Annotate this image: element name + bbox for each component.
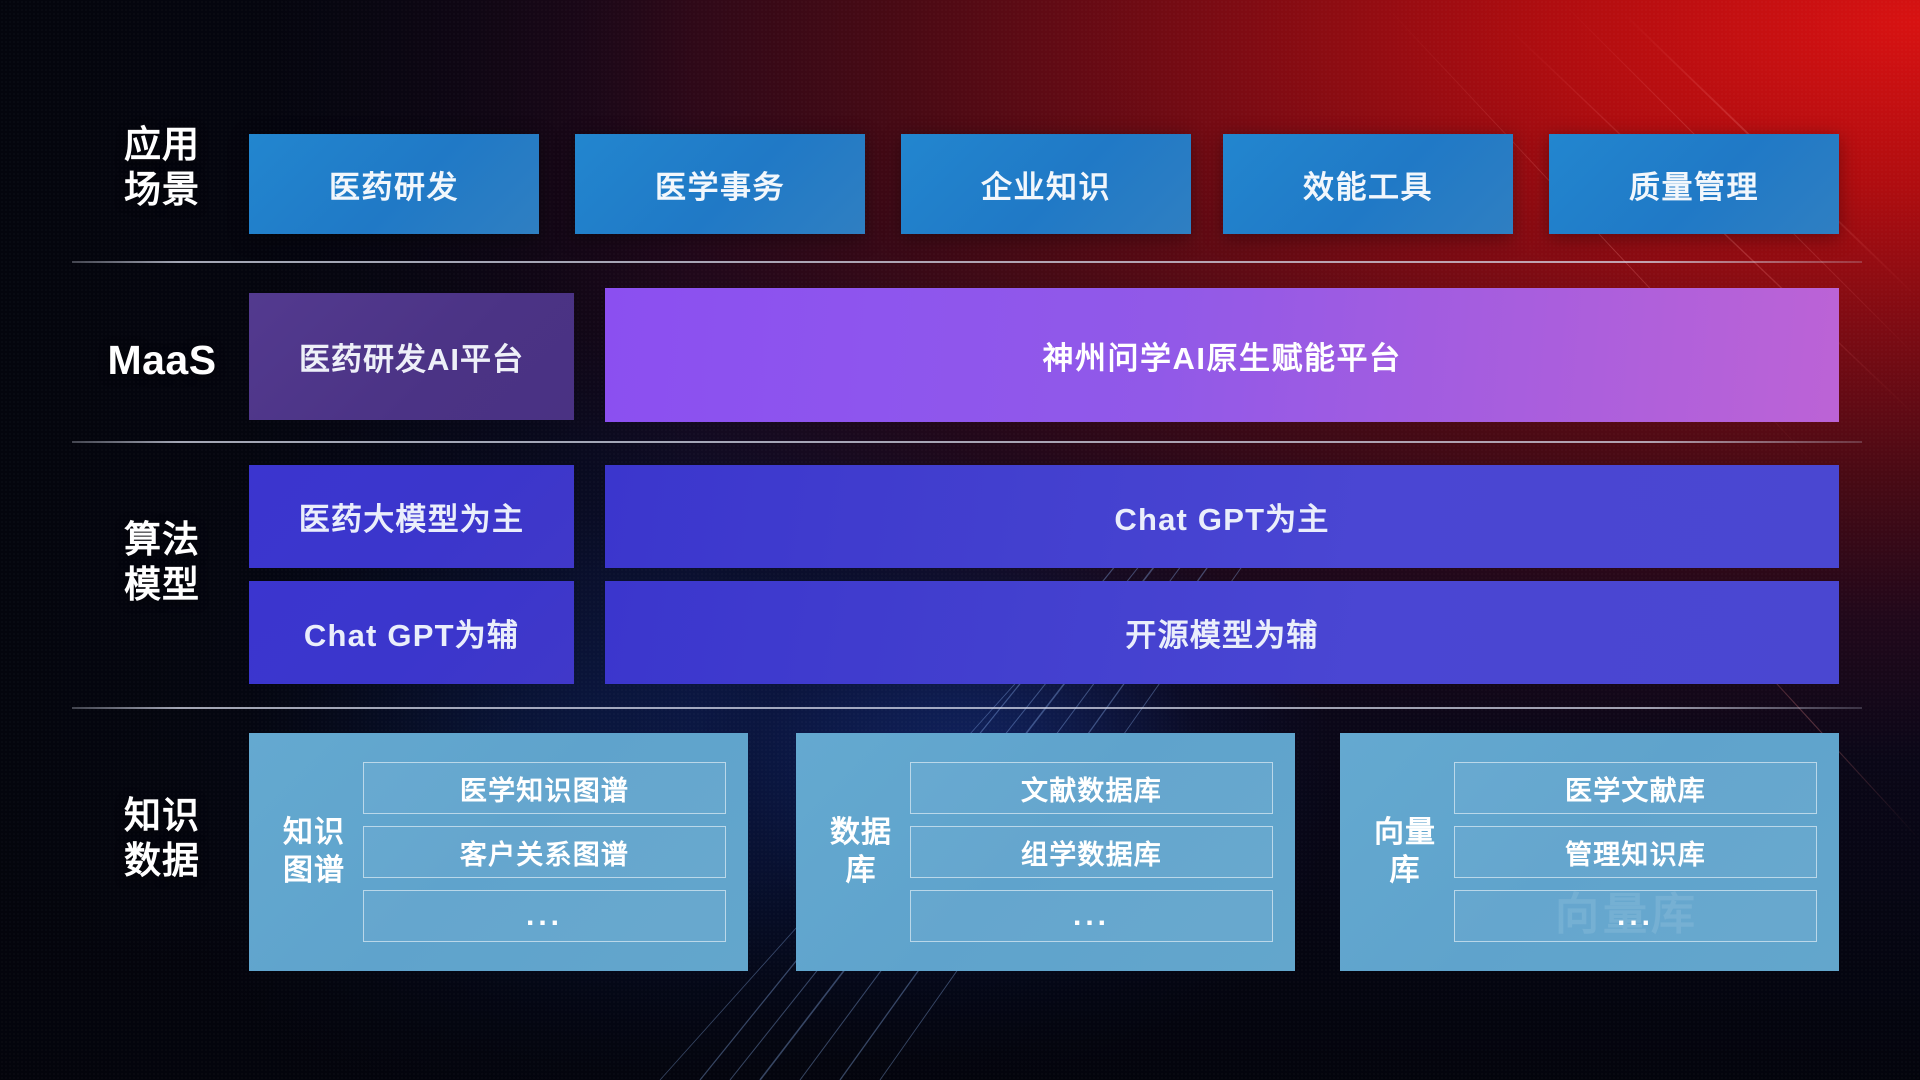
row-label-line-2: 数据 [72, 838, 252, 883]
app-box-enterprise-knowledge[interactable]: 企业知识 [901, 134, 1191, 234]
knowledge-item[interactable]: 文献数据库 [910, 762, 1273, 814]
knowledge-item[interactable]: 管理知识库 [1454, 826, 1817, 878]
knowledge-item-more[interactable]: ... [910, 890, 1273, 942]
app-box-medical-affairs[interactable]: 医学事务 [575, 134, 865, 234]
knowledge-panel-items: 医学知识图谱 客户关系图谱 ... [353, 744, 748, 960]
knowledge-panel-vector-store[interactable]: 向量库 医学文献库 管理知识库 ... [1340, 733, 1839, 971]
knowledge-panel-database[interactable]: 数据库 文献数据库 组学数据库 ... [796, 733, 1295, 971]
row-label-application-scenario: 应用 场景 [72, 122, 252, 212]
algo-box-pharma-llm-primary[interactable]: 医药大模型为主 [249, 465, 574, 568]
app-box-efficiency-tools[interactable]: 效能工具 [1223, 134, 1513, 234]
row-label-algorithm-model: 算法 模型 [72, 517, 252, 607]
knowledge-item[interactable]: 医学文献库 [1454, 762, 1817, 814]
row-label-maas: MaaS [72, 335, 252, 385]
row-label-line-1: MaaS [72, 335, 252, 385]
row-label-line-2: 场景 [72, 167, 252, 212]
row-label-line-2: 模型 [72, 562, 252, 607]
knowledge-item[interactable]: 客户关系图谱 [363, 826, 726, 878]
maas-box-shenzhou-wenxue-platform[interactable]: 神州问学AI原生赋能平台 [605, 288, 1839, 422]
knowledge-panel-knowledge-graph[interactable]: 知识图谱 医学知识图谱 客户关系图谱 ... [249, 733, 748, 971]
algo-box-chatgpt-secondary[interactable]: Chat GPT为辅 [249, 581, 574, 684]
algo-box-label: 医药大模型为主 [299, 494, 524, 539]
divider-after-maas [72, 441, 1862, 443]
maas-box-label: 神州问学AI原生赋能平台 [1043, 333, 1402, 378]
app-box-quality-management[interactable]: 质量管理 [1549, 134, 1839, 234]
row-label-line-1: 知识 [72, 793, 252, 838]
knowledge-panel-title: 数据库 [822, 814, 900, 891]
algo-box-chatgpt-primary[interactable]: Chat GPT为主 [605, 465, 1839, 568]
knowledge-panel-items: 文献数据库 组学数据库 ... [900, 744, 1295, 960]
knowledge-panel-title: 向量库 [1366, 814, 1444, 891]
architecture-diagram: 应用 场景 医药研发 医学事务 企业知识 效能工具 质量管理 MaaS 医药研发… [0, 0, 1920, 1080]
maas-box-label: 医药研发AI平台 [299, 334, 524, 379]
algo-box-label: Chat GPT为辅 [304, 610, 519, 655]
knowledge-item-more[interactable]: ... [363, 890, 726, 942]
row-label-line-1: 算法 [72, 517, 252, 562]
app-box-label: 医药研发 [329, 162, 459, 207]
knowledge-item[interactable]: 医学知识图谱 [363, 762, 726, 814]
knowledge-item-more[interactable]: ... [1454, 890, 1817, 942]
row-label-line-1: 应用 [72, 122, 252, 167]
app-box-label: 企业知识 [981, 162, 1111, 207]
maas-box-drug-rd-ai-platform[interactable]: 医药研发AI平台 [249, 293, 574, 420]
knowledge-item[interactable]: 组学数据库 [910, 826, 1273, 878]
divider-after-algorithm [72, 707, 1862, 709]
app-box-drug-rd[interactable]: 医药研发 [249, 134, 539, 234]
diagram-canvas: 应用 场景 医药研发 医学事务 企业知识 效能工具 质量管理 MaaS 医药研发… [0, 0, 1920, 1080]
algo-box-opensource-secondary[interactable]: 开源模型为辅 [605, 581, 1839, 684]
algo-box-label: 开源模型为辅 [1125, 610, 1318, 655]
knowledge-panel-items: 医学文献库 管理知识库 ... [1444, 744, 1839, 960]
divider-after-application [72, 261, 1862, 263]
app-box-label: 医学事务 [655, 162, 785, 207]
row-label-knowledge-data: 知识 数据 [72, 793, 252, 883]
app-box-label: 效能工具 [1303, 162, 1433, 207]
knowledge-panel-title: 知识图谱 [275, 814, 353, 891]
app-box-label: 质量管理 [1629, 162, 1759, 207]
algo-box-label: Chat GPT为主 [1114, 494, 1329, 539]
